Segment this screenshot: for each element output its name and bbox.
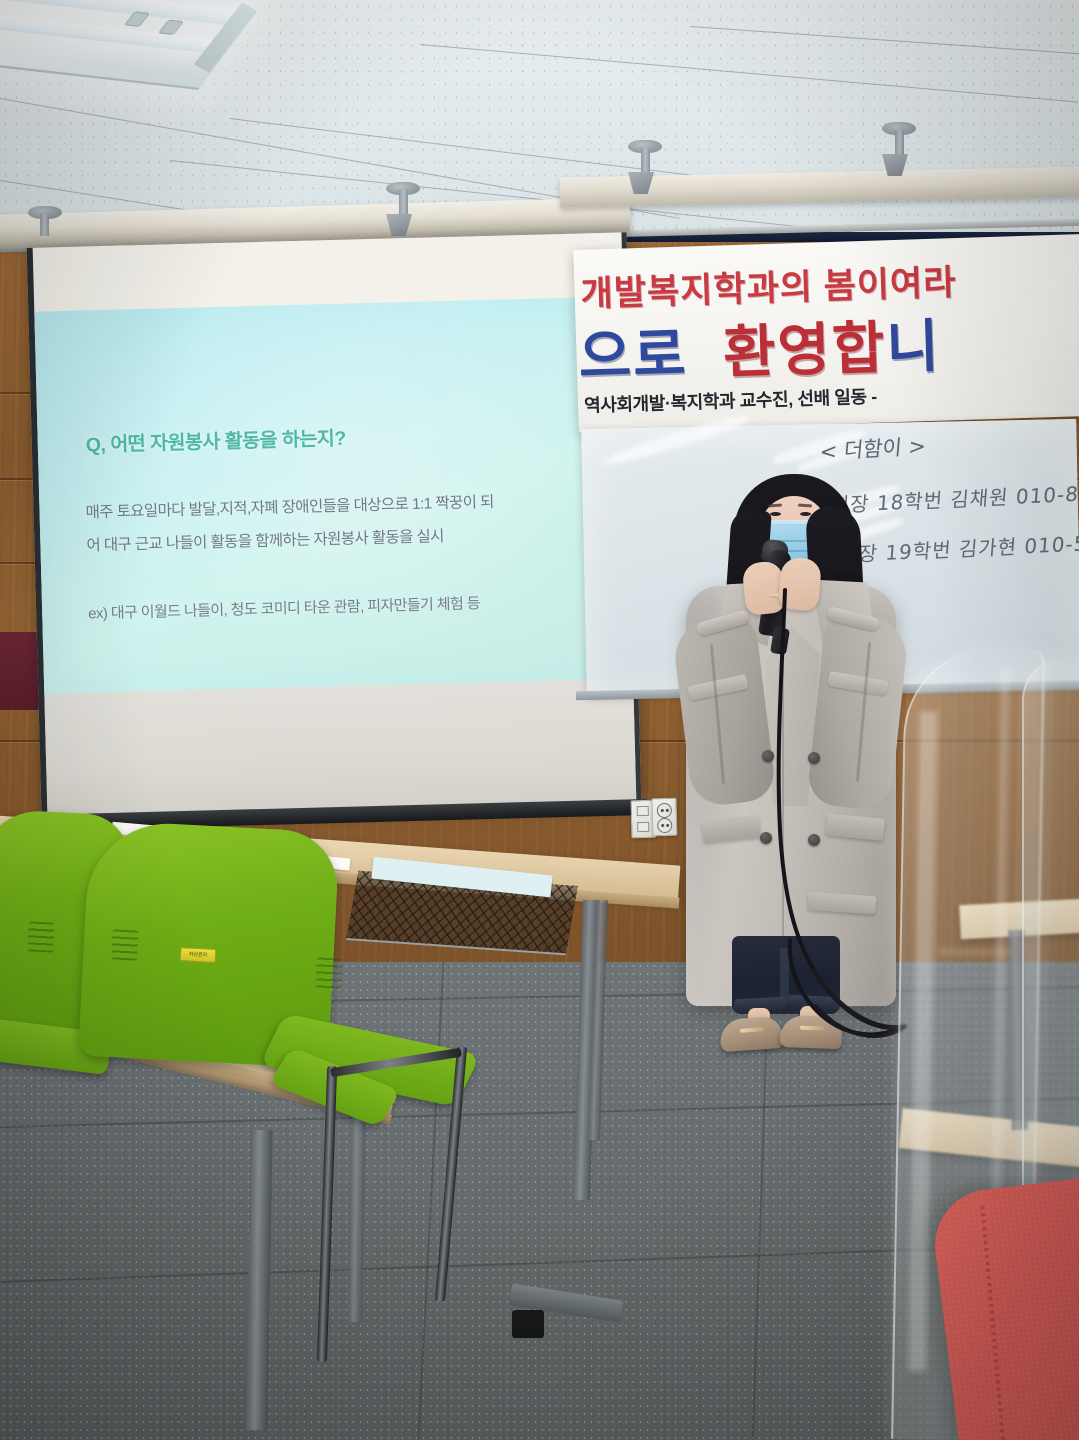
desk-leg-foot <box>512 1310 544 1338</box>
screen-blank-area <box>44 678 636 817</box>
chair-vent-slots <box>315 957 343 988</box>
welcome-banner: 개발복지학과의 봄이여라 으로 환영합니 역사회개발·복지학과 교수진, 선배 … <box>573 234 1079 432</box>
banner-line2-part-a: 으로 <box>578 323 689 390</box>
chair-asset-sticker: 자산관리 <box>180 947 217 963</box>
slide-body-text: 매주 토요일마다 발달,지적,자폐 장애인들을 대상으로 1:1 짝꿍이 되 어… <box>85 483 607 563</box>
banner-line2-part-b: 환영합 <box>722 316 887 385</box>
ceiling-drop-rod <box>895 130 904 156</box>
eye <box>770 512 781 516</box>
tube-clip <box>158 19 185 35</box>
ceiling-drop-rod <box>641 148 650 174</box>
ceiling-drop-rod <box>399 190 408 216</box>
whiteboard-club-name: < 더함이 > <box>819 430 928 466</box>
ceiling-drop-rod <box>40 214 49 236</box>
projector-screen: Q, 어떤 자원봉사 활동을 하는지? 매주 토요일마다 발달,지적,자폐 장애… <box>27 232 642 818</box>
acrylic-reflection <box>938 947 1010 956</box>
chair-vent-slots <box>27 921 55 952</box>
classroom-photo-scene: Q, 어떤 자원봉사 활동을 하는지? 매주 토요일마다 발달,지적,자폐 장애… <box>0 0 1079 1440</box>
chair-vent-slots <box>111 929 139 960</box>
acrylic-reflection <box>908 711 938 1371</box>
projected-slide: Q, 어떤 자원봉사 활동을 하는지? 매주 토요일마다 발달,지적,자폐 장애… <box>34 296 633 693</box>
banner-line-2: 으로 환영합니 <box>577 295 1079 394</box>
banner-line2-part-c: 니 <box>885 315 941 381</box>
